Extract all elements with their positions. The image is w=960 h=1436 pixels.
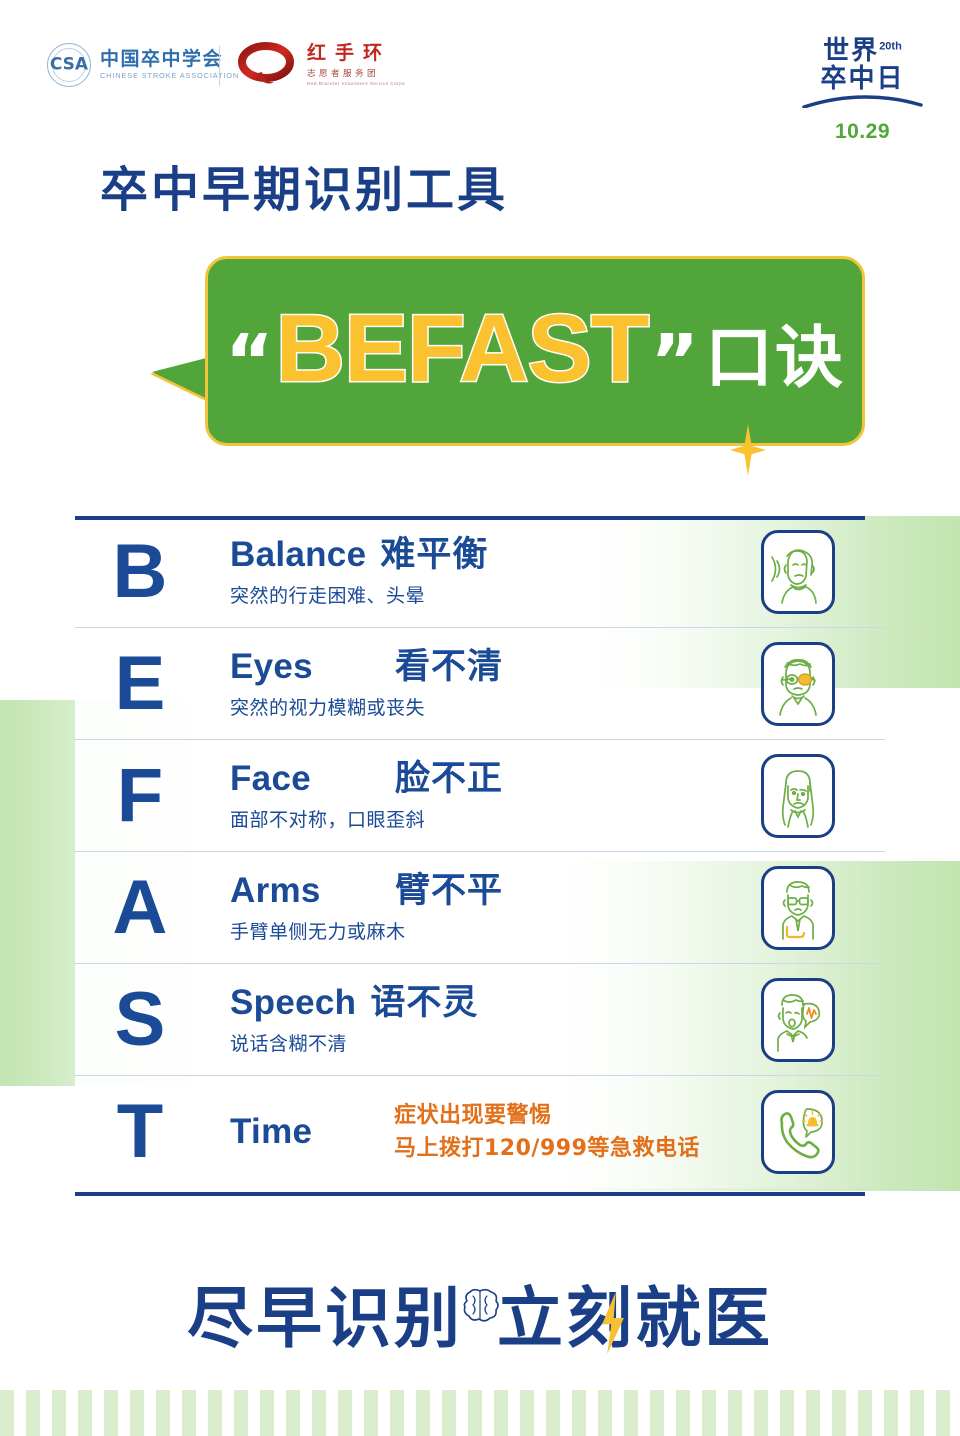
row-letter: E bbox=[75, 646, 205, 722]
wsd-date: 10.29 bbox=[800, 120, 925, 144]
red-bracelet-sub-cn: 志愿者服务团 bbox=[307, 67, 405, 79]
befast-row-eyes: E Eyes 看不清 突然的视力模糊或丧失 bbox=[75, 628, 885, 740]
befast-acronym: BEFAST bbox=[276, 301, 649, 397]
page-title: 卒中早期识别工具 bbox=[100, 166, 508, 214]
row-subtitle: 突然的行走困难、头晕 bbox=[230, 581, 710, 608]
world-stroke-day-logo: 世界20th 卒中日 10.29 bbox=[800, 36, 925, 136]
banner-suffix-cn: 口诀 bbox=[705, 325, 845, 393]
dizzy-woman-icon bbox=[761, 530, 835, 614]
row-subtitle: 面部不对称，口眼歪斜 bbox=[230, 805, 710, 832]
befast-row-speech: S Speech 语不灵 说话含糊不清 bbox=[75, 964, 885, 1076]
row-letter: T bbox=[75, 1094, 205, 1170]
red-bracelet-name-en: Red Bracelet Volunteers Service Corps bbox=[307, 81, 405, 86]
row-letter: A bbox=[75, 870, 205, 946]
row-en-word: Time bbox=[230, 1112, 380, 1151]
row-en-word: Arms bbox=[230, 871, 395, 910]
list-top-rule bbox=[75, 516, 865, 520]
csa-seal-label: CSA bbox=[48, 57, 90, 74]
row-letter: B bbox=[75, 534, 205, 610]
speech-waveform-icon bbox=[761, 978, 835, 1062]
row-cn-word: 难平衡 bbox=[380, 536, 488, 575]
row-subtitle: 突然的视力模糊或丧失 bbox=[230, 693, 710, 720]
time-warning-line1: 症状出现要警惕 bbox=[394, 1099, 700, 1132]
row-en-word: Face bbox=[230, 759, 395, 798]
slogan-part1: 尽早识别 bbox=[187, 1280, 463, 1357]
logo-divider bbox=[219, 46, 220, 86]
wsd-superscript: 20th bbox=[879, 40, 902, 52]
quote-open: “ bbox=[225, 325, 274, 399]
wsd-line1: 世界 bbox=[823, 35, 879, 65]
list-bottom-rule bbox=[75, 1192, 865, 1196]
row-cn-word: 脸不正 bbox=[395, 760, 503, 799]
row-en-word: Balance bbox=[230, 535, 366, 574]
row-en-word: Eyes bbox=[230, 647, 395, 686]
red-bracelet-name-cn: 红手环 bbox=[307, 44, 405, 64]
red-bracelet-ring-icon bbox=[238, 42, 296, 88]
brain-icon bbox=[458, 1287, 504, 1327]
befast-row-face: F Face 脸不正 面部不对称，口眼歪斜 bbox=[75, 740, 885, 852]
row-subtitle: 说话含糊不清 bbox=[230, 1029, 710, 1056]
chinese-stroke-association-logo: CSA 中国卒中学会 CHINESE STROKE ASSOCIATION bbox=[47, 43, 239, 87]
weak-arm-man-icon bbox=[761, 866, 835, 950]
row-cn-word: 看不清 bbox=[395, 648, 503, 687]
row-letter: F bbox=[75, 758, 205, 834]
csa-seal-icon: CSA bbox=[47, 43, 91, 87]
befast-row-balance: B Balance 难平衡 突然的行走困难、头晕 bbox=[75, 516, 885, 628]
red-bracelet-logo: 红手环 志愿者服务团 Red Bracelet Volunteers Servi… bbox=[238, 42, 405, 88]
time-warning-line2: 马上拨打120/999等急救电话 bbox=[394, 1132, 700, 1165]
quote-close: ” bbox=[650, 325, 699, 399]
slogan-part2: 立刻就医 bbox=[497, 1280, 773, 1357]
bottom-stripe-pattern bbox=[0, 1390, 960, 1436]
emergency-phone-icon bbox=[761, 1090, 835, 1174]
befast-banner: “ BEFAST ” 口诀 bbox=[152, 252, 872, 477]
eye-patch-face-icon bbox=[761, 642, 835, 726]
befast-row-arms: A Arms 臂不平 手臂单侧无力或麻木 bbox=[75, 852, 885, 964]
row-cn-word: 臂不平 bbox=[395, 872, 503, 911]
wsd-arc-icon bbox=[800, 92, 925, 108]
row-en-word: Speech bbox=[230, 983, 356, 1022]
row-cn-word: 语不灵 bbox=[370, 984, 478, 1023]
befast-row-time: T Time 症状出现要警惕 马上拨打120/999等急救电话 bbox=[75, 1076, 885, 1188]
header: CSA 中国卒中学会 CHINESE STROKE ASSOCIATION bbox=[0, 0, 960, 150]
befast-list: B Balance 难平衡 突然的行走困难、头晕 bbox=[75, 516, 885, 1188]
crooked-face-icon bbox=[761, 754, 835, 838]
wsd-line2: 卒中日 bbox=[800, 64, 925, 92]
row-subtitle: 手臂单侧无力或麻木 bbox=[230, 917, 710, 944]
row-letter: S bbox=[75, 982, 205, 1058]
